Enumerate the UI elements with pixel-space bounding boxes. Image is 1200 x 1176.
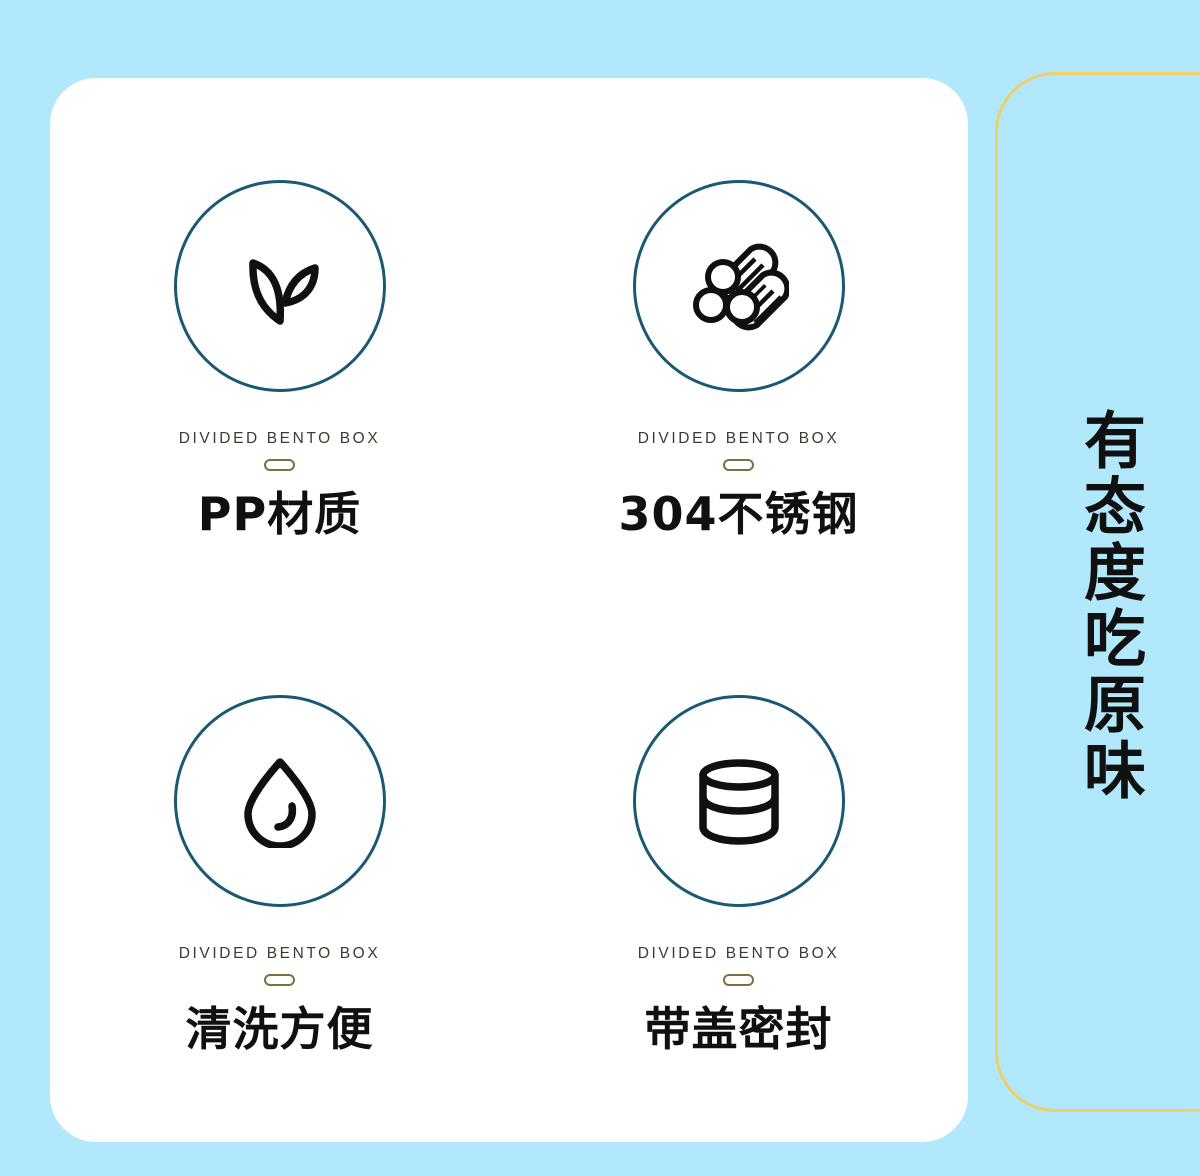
feature-eyebrow-3: DIVIDED BENTO BOX (179, 945, 381, 963)
feature-item-easy-clean[interactable]: DIVIDED BENTO BOX 清洗方便 (174, 695, 386, 1055)
stacked-steel-tubes-icon (689, 241, 789, 331)
feature-eyebrow-2: DIVIDED BENTO BOX (638, 430, 840, 448)
feature-item-pp-material[interactable]: DIVIDED BENTO BOX PP材质 (174, 180, 386, 540)
feature-grid: DIVIDED BENTO BOX PP材质 (50, 78, 968, 1142)
icon-circle-1 (174, 180, 386, 392)
lidded-container-icon (693, 757, 785, 845)
icon-circle-2 (633, 180, 845, 392)
feature-title-1: PP材质 (198, 489, 361, 540)
feature-item-airtight-lid[interactable]: DIVIDED BENTO BOX 带盖密封 (633, 695, 845, 1055)
icon-circle-4 (633, 695, 845, 907)
feature-eyebrow-4: DIVIDED BENTO BOX (638, 945, 840, 963)
water-drop-icon (240, 754, 320, 848)
pill-divider-1 (264, 459, 295, 471)
feature-eyebrow-1: DIVIDED BENTO BOX (179, 430, 381, 448)
pill-divider-3 (264, 974, 295, 986)
pill-divider-4 (723, 974, 754, 986)
promo-page: 有态度吃原味 DIVIDED BENTO BOX (0, 0, 1200, 1176)
icon-circle-3 (174, 695, 386, 907)
vertical-slogan-text: 有态度吃原味 (1062, 408, 1142, 804)
leaves-icon (236, 243, 324, 329)
feature-title-4: 带盖密封 (645, 1004, 833, 1055)
feature-item-304-stainless-steel[interactable]: DIVIDED BENTO BOX 304不锈钢 (618, 180, 858, 540)
feature-title-2: 304不锈钢 (618, 489, 858, 540)
feature-card-panel: DIVIDED BENTO BOX PP材质 (50, 78, 968, 1142)
feature-title-3: 清洗方便 (186, 1004, 374, 1055)
pill-divider-2 (723, 459, 754, 471)
